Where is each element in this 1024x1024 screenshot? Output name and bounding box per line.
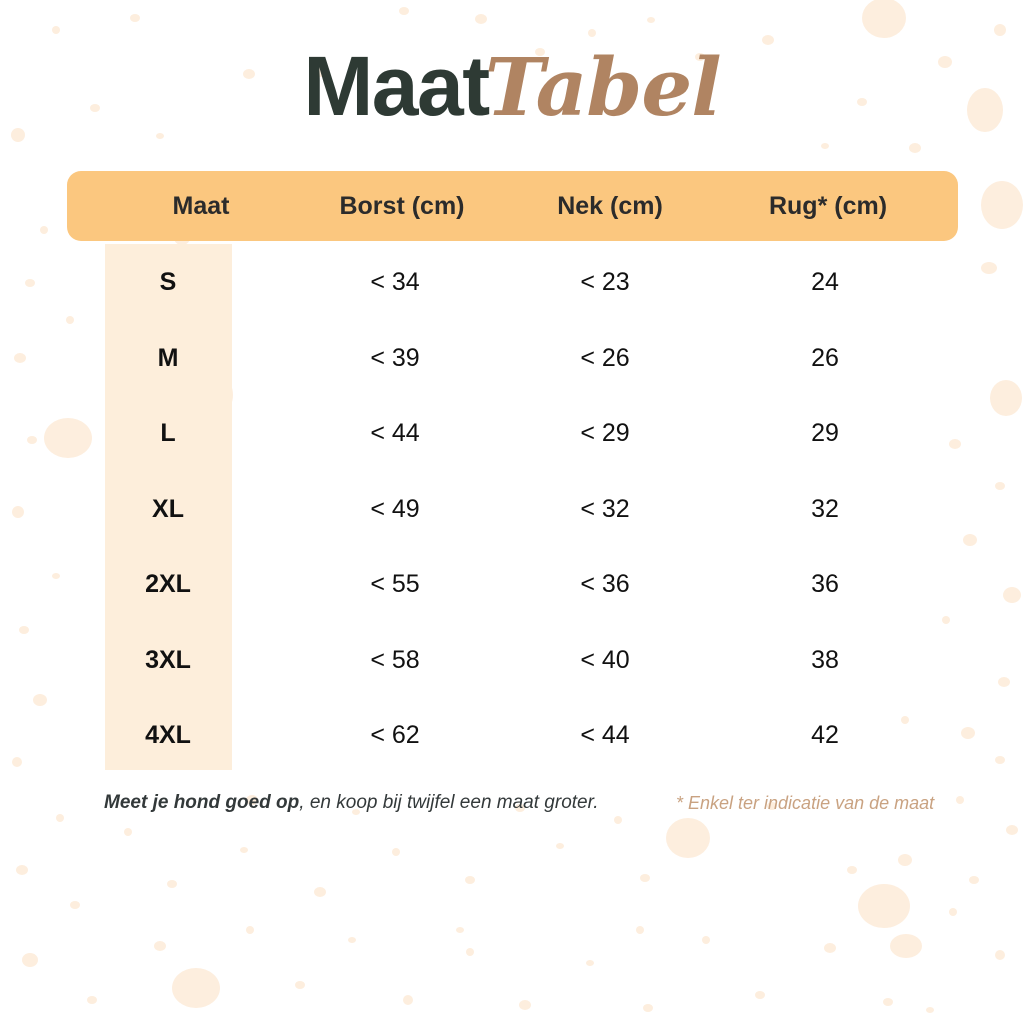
page-title-script: Tabel <box>485 40 721 134</box>
cell-size: M <box>68 321 268 397</box>
cell-neck: < 26 <box>505 321 705 397</box>
cell-chest: < 55 <box>295 547 495 623</box>
cell-chest: < 62 <box>295 698 495 774</box>
cell-neck: < 40 <box>505 623 705 699</box>
back-length-disclaimer: * Enkel ter indicatie van de maat <box>676 788 934 818</box>
cell-neck: < 29 <box>505 396 705 472</box>
cell-chest: < 58 <box>295 623 495 699</box>
cell-chest: < 39 <box>295 321 495 397</box>
column-header-size: Maat <box>101 171 301 241</box>
cell-back: 38 <box>725 623 925 699</box>
measuring-advice-note: Meet je hond goed op, en koop bij twijfe… <box>104 788 599 818</box>
cell-back: 26 <box>725 321 925 397</box>
size-chart-page: MaatTabel Maat Borst (cm) Nek (cm) Rug* … <box>0 0 1024 1024</box>
measuring-advice-bold: Meet je hond goed op <box>104 792 299 813</box>
cell-back: 36 <box>725 547 925 623</box>
table-row: M < 39 < 26 26 <box>0 321 1024 397</box>
cell-neck: < 36 <box>505 547 705 623</box>
table-row: 2XL < 55 < 36 36 <box>0 547 1024 623</box>
cell-size: 2XL <box>68 547 268 623</box>
column-header-chest: Borst (cm) <box>302 171 502 241</box>
page-title: MaatTabel <box>0 38 1024 135</box>
footer-notes: Meet je hond goed op, en koop bij twijfe… <box>0 788 1024 818</box>
cell-chest: < 34 <box>295 245 495 321</box>
column-header-back: Rug* (cm) <box>728 171 928 241</box>
cell-back: 42 <box>725 698 925 774</box>
table-header-row: Maat Borst (cm) Nek (cm) Rug* (cm) <box>67 171 958 241</box>
table-row: XL < 49 < 32 32 <box>0 472 1024 548</box>
column-header-neck: Nek (cm) <box>510 171 710 241</box>
cell-chest: < 49 <box>295 472 495 548</box>
cell-back: 29 <box>725 396 925 472</box>
table-body: S < 34 < 23 24 M < 39 < 26 26 L < 44 < 2… <box>0 245 1024 774</box>
cell-neck: < 32 <box>505 472 705 548</box>
cell-size: S <box>68 245 268 321</box>
measuring-advice-rest: , en koop bij twijfel een maat groter. <box>299 792 598 813</box>
cell-neck: < 23 <box>505 245 705 321</box>
cell-size: XL <box>68 472 268 548</box>
cell-chest: < 44 <box>295 396 495 472</box>
cell-size: 3XL <box>68 623 268 699</box>
table-row: S < 34 < 23 24 <box>0 245 1024 321</box>
cell-neck: < 44 <box>505 698 705 774</box>
table-row: L < 44 < 29 29 <box>0 396 1024 472</box>
cell-back: 24 <box>725 245 925 321</box>
table-row: 4XL < 62 < 44 42 <box>0 698 1024 774</box>
page-title-main: Maat <box>303 39 488 133</box>
cell-size: 4XL <box>68 698 268 774</box>
cell-back: 32 <box>725 472 925 548</box>
table-row: 3XL < 58 < 40 38 <box>0 623 1024 699</box>
cell-size: L <box>68 396 268 472</box>
